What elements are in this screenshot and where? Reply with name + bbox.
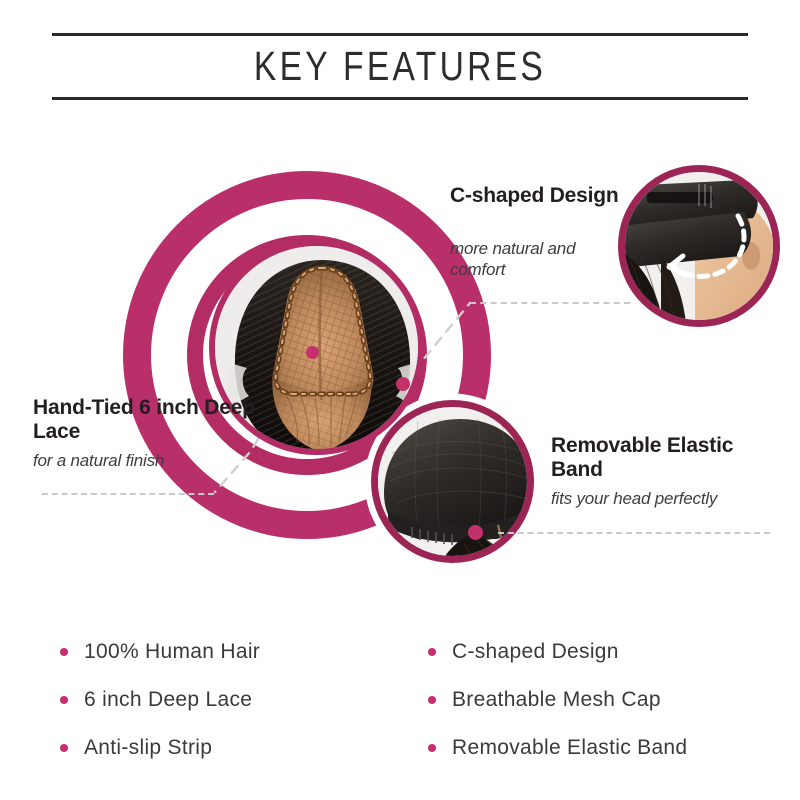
feature-infographic: KEY FEATURES — [0, 0, 800, 800]
dash-line-c-shaped — [470, 302, 630, 304]
feature-label: Breathable Mesh Cap — [452, 688, 661, 712]
feature-label: 100% Human Hair — [84, 640, 260, 664]
callout-title-hand-tied: Hand-Tied 6 inch Deep Lace — [33, 396, 283, 444]
bullet-dot-icon — [60, 648, 68, 656]
marker-dot-c-shaped — [396, 377, 410, 391]
bullet-dot-icon — [428, 744, 436, 752]
marker-dot-elastic-band — [468, 525, 483, 540]
feature-list-left: 100% Human Hair 6 inch Deep Lace Anti-sl… — [60, 628, 260, 772]
callout-subtitle-hand-tied: for a natural finish — [33, 450, 283, 471]
dash-line-hand-tied — [42, 493, 214, 495]
callout-title-elastic-band: Removable Elastic Band — [551, 434, 786, 482]
list-item: Breathable Mesh Cap — [428, 676, 687, 724]
bullet-dot-icon — [428, 696, 436, 704]
callout-title-c-shaped: C-shaped Design — [450, 184, 630, 208]
callout-subtitle-c-shaped: more natural and comfort — [450, 238, 625, 280]
bullet-dot-icon — [60, 744, 68, 752]
feature-label: Anti-slip Strip — [84, 736, 212, 760]
list-item: 100% Human Hair — [60, 628, 260, 676]
c-shaped-cap-photo — [618, 165, 780, 327]
bullet-dot-icon — [60, 696, 68, 704]
feature-label: C-shaped Design — [452, 640, 619, 664]
feature-label: Removable Elastic Band — [452, 736, 687, 760]
list-item: C-shaped Design — [428, 628, 687, 676]
marker-dot-lace — [306, 346, 319, 359]
dash-line-elastic-band — [498, 532, 770, 534]
callout-subtitle-elastic-band: fits your head perfectly — [551, 488, 791, 509]
elastic-band-cap-photo — [371, 400, 534, 563]
list-item: 6 inch Deep Lace — [60, 676, 260, 724]
bullet-dot-icon — [428, 648, 436, 656]
feature-list-right: C-shaped Design Breathable Mesh Cap Remo… — [428, 628, 687, 772]
feature-label: 6 inch Deep Lace — [84, 688, 252, 712]
list-item: Removable Elastic Band — [428, 724, 687, 772]
list-item: Anti-slip Strip — [60, 724, 260, 772]
